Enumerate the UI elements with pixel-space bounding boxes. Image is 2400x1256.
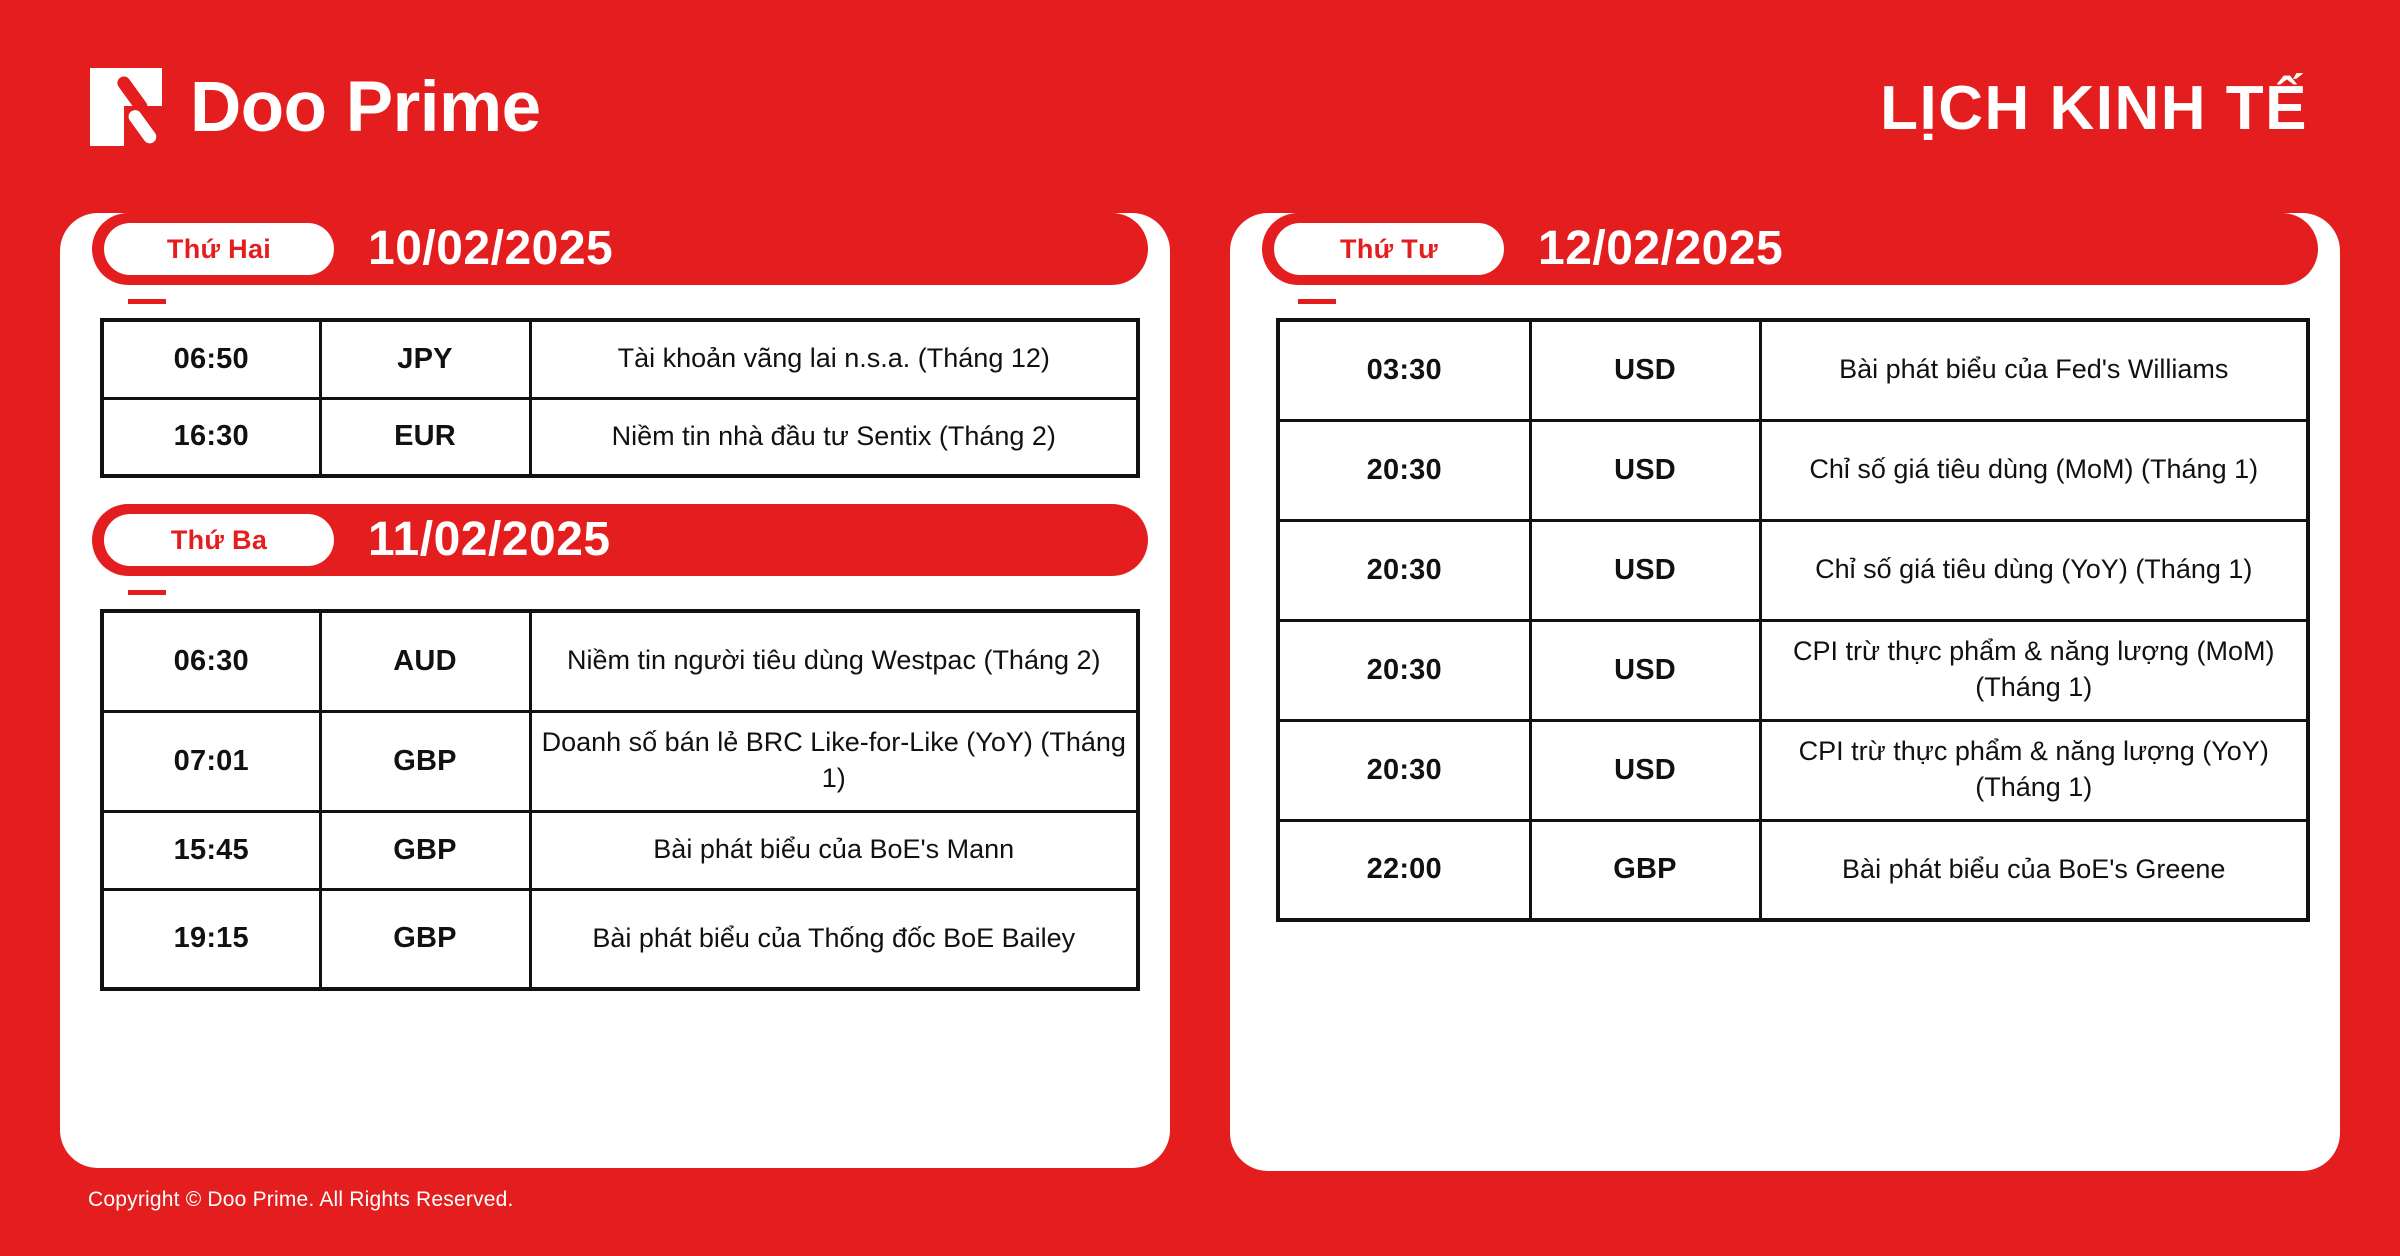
cell-currency: GBP (320, 811, 530, 889)
cell-currency: EUR (320, 398, 530, 476)
day-accent-dash (1298, 299, 1336, 304)
cell-event: Niềm tin nhà đầu tư Sentix (Tháng 2) (530, 398, 1138, 476)
table-row[interactable]: 15:45 GBP Bài phát biểu của BoE's Mann (102, 811, 1138, 889)
cell-currency: JPY (320, 320, 530, 398)
day-group-monday: Thứ Hai 10/02/2025 06:50 JPY Tài khoản v… (60, 213, 1170, 478)
table-row[interactable]: 06:50 JPY Tài khoản vãng lai n.s.a. (Thá… (102, 320, 1138, 398)
table-row[interactable]: 19:15 GBP Bài phát biểu của Thống đốc Bo… (102, 889, 1138, 989)
cell-currency: USD (1530, 620, 1760, 720)
table-row[interactable]: 20:30 USD Chỉ số giá tiêu dùng (MoM) (Th… (1278, 420, 2308, 520)
cell-currency: USD (1530, 420, 1760, 520)
day-header[interactable]: Thứ Hai 10/02/2025 (92, 213, 1148, 285)
cell-time: 20:30 (1278, 520, 1530, 620)
cell-time: 16:30 (102, 398, 320, 476)
day-accent-dash (128, 590, 166, 595)
cell-currency: USD (1530, 520, 1760, 620)
cell-event: Doanh số bán lẻ BRC Like-for-Like (YoY) … (530, 711, 1138, 811)
cell-event: Tài khoản vãng lai n.s.a. (Tháng 12) (530, 320, 1138, 398)
day-group-tuesday: Thứ Ba 11/02/2025 06:30 AUD Niềm tin ngư… (60, 504, 1170, 991)
table-row[interactable]: 03:30 USD Bài phát biểu của Fed's Willia… (1278, 320, 2308, 420)
doo-prime-mark-icon (90, 68, 162, 146)
day-date: 11/02/2025 (368, 516, 611, 564)
table-row[interactable]: 07:01 GBP Doanh số bán lẻ BRC Like-for-L… (102, 711, 1138, 811)
cell-currency: USD (1530, 320, 1760, 420)
day-card-left: Thứ Hai 10/02/2025 06:50 JPY Tài khoản v… (60, 213, 1170, 1168)
cell-currency: GBP (320, 889, 530, 989)
table-row[interactable]: 16:30 EUR Niềm tin nhà đầu tư Sentix (Th… (102, 398, 1138, 476)
cell-event: Chỉ số giá tiêu dùng (MoM) (Tháng 1) (1760, 420, 2308, 520)
page-header: Doo Prime LỊCH KINH TẾ (0, 0, 2400, 200)
cell-time: 20:30 (1278, 420, 1530, 520)
cell-event: CPI trừ thực phẩm & năng lượng (YoY) (Th… (1760, 720, 2308, 820)
table-row[interactable]: 06:30 AUD Niềm tin người tiêu dùng Westp… (102, 611, 1138, 711)
day-date: 10/02/2025 (368, 225, 613, 273)
weekday-badge: Thứ Hai (104, 223, 334, 275)
brand-logo: Doo Prime (90, 68, 541, 146)
cell-time: 06:50 (102, 320, 320, 398)
weekday-badge: Thứ Tư (1274, 223, 1504, 275)
page-title: LỊCH KINH TẾ (1880, 78, 2308, 140)
cell-currency: GBP (1530, 820, 1760, 920)
table-row[interactable]: 20:30 USD CPI trừ thực phẩm & năng lượng… (1278, 620, 2308, 720)
brand-name: Doo Prime (190, 72, 541, 143)
cell-event: Bài phát biểu của Thống đốc BoE Bailey (530, 889, 1138, 989)
cell-event: Bài phát biểu của Fed's Williams (1760, 320, 2308, 420)
cell-event: Chỉ số giá tiêu dùng (YoY) (Tháng 1) (1760, 520, 2308, 620)
cell-time: 20:30 (1278, 620, 1530, 720)
day-group-wednesday: Thứ Tư 12/02/2025 03:30 USD Bài phát biể… (1230, 213, 2340, 922)
cell-event: Niềm tin người tiêu dùng Westpac (Tháng … (530, 611, 1138, 711)
cell-event: Bài phát biểu của BoE's Mann (530, 811, 1138, 889)
cell-time: 19:15 (102, 889, 320, 989)
cell-event: CPI trừ thực phẩm & năng lượng (MoM) (Th… (1760, 620, 2308, 720)
cell-time: 15:45 (102, 811, 320, 889)
day-header[interactable]: Thứ Tư 12/02/2025 (1262, 213, 2318, 285)
cell-time: 07:01 (102, 711, 320, 811)
weekday-badge: Thứ Ba (104, 514, 334, 566)
cell-currency: AUD (320, 611, 530, 711)
events-table: 03:30 USD Bài phát biểu của Fed's Willia… (1276, 318, 2310, 922)
cell-event: Bài phát biểu của BoE's Greene (1760, 820, 2308, 920)
day-accent-dash (128, 299, 166, 304)
table-row[interactable]: 20:30 USD Chỉ số giá tiêu dùng (YoY) (Th… (1278, 520, 2308, 620)
table-row[interactable]: 22:00 GBP Bài phát biểu của BoE's Greene (1278, 820, 2308, 920)
copyright-text: Copyright © Doo Prime. All Rights Reserv… (88, 1188, 514, 1212)
day-header[interactable]: Thứ Ba 11/02/2025 (92, 504, 1148, 576)
events-table: 06:50 JPY Tài khoản vãng lai n.s.a. (Thá… (100, 318, 1140, 478)
cell-time: 20:30 (1278, 720, 1530, 820)
cell-currency: GBP (320, 711, 530, 811)
day-date: 12/02/2025 (1538, 225, 1783, 273)
cell-time: 22:00 (1278, 820, 1530, 920)
events-table: 06:30 AUD Niềm tin người tiêu dùng Westp… (100, 609, 1140, 991)
cell-time: 03:30 (1278, 320, 1530, 420)
day-card-right: Thứ Tư 12/02/2025 03:30 USD Bài phát biể… (1230, 213, 2340, 1171)
table-row[interactable]: 20:30 USD CPI trừ thực phẩm & năng lượng… (1278, 720, 2308, 820)
cell-time: 06:30 (102, 611, 320, 711)
cell-currency: USD (1530, 720, 1760, 820)
